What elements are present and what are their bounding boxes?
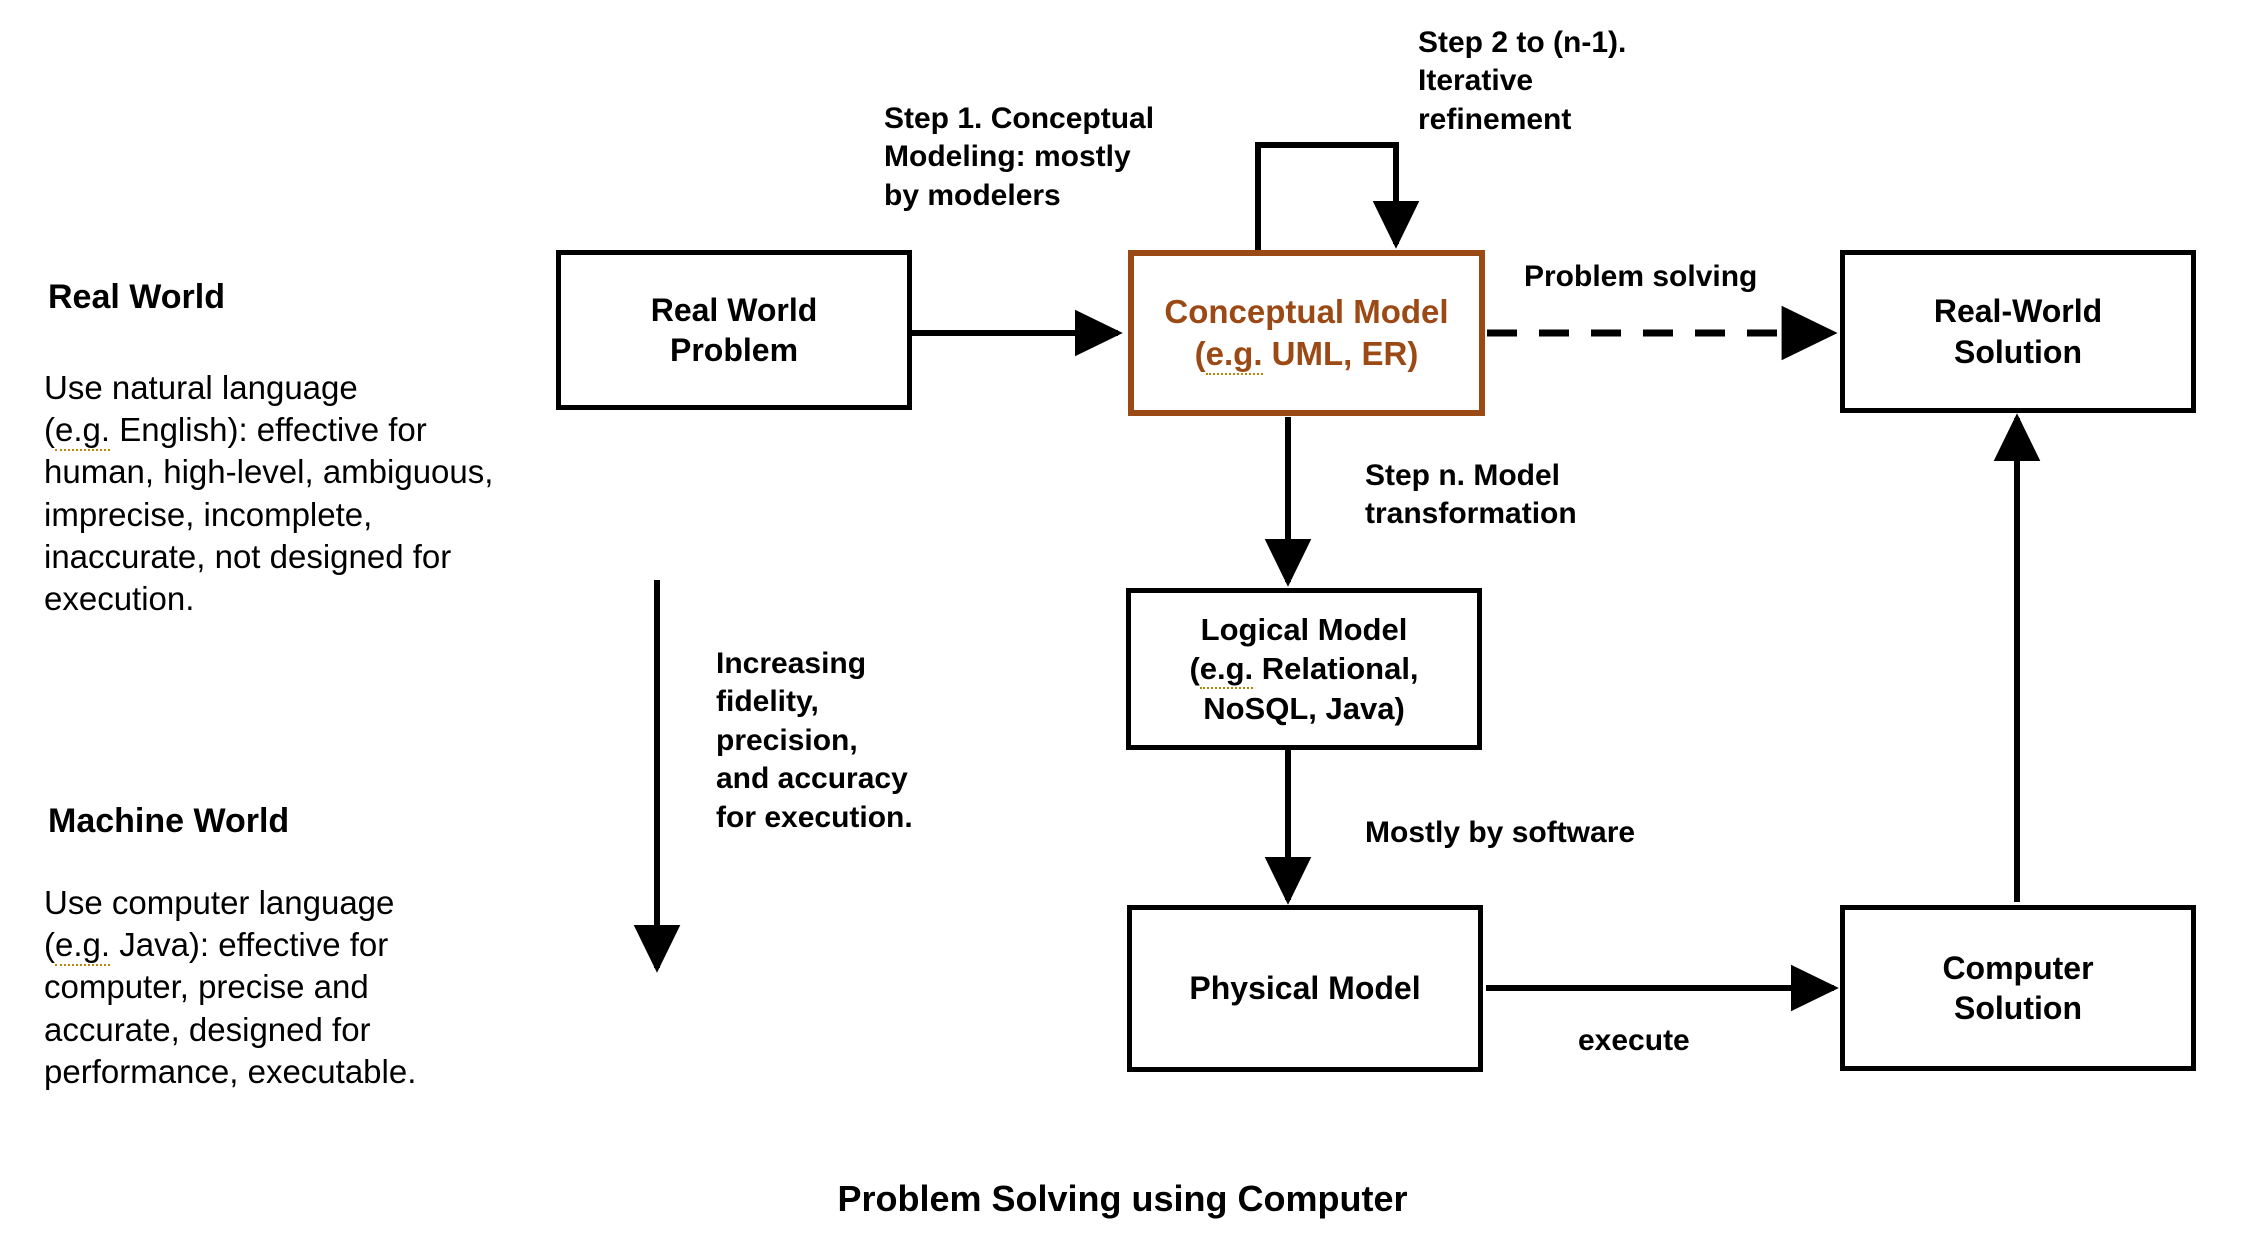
node-logical-model-line-3: NoSQL, Java) [1203,689,1405,728]
node-physical-model[interactable]: Physical Model [1127,905,1483,1072]
step-n-label: Step n. Model transformation [1365,457,1665,534]
node-physical-model-line-1: Physical Model [1189,968,1420,1008]
node-logical-model[interactable]: Logical Model (e.g. Relational, NoSQL, J… [1126,588,1482,750]
execute-label: execute [1578,1022,1690,1060]
node-conceptual-model-line-2-suffix: UML, ER) [1263,335,1419,372]
diagram-canvas: Real World Use natural language (e.g. En… [0,0,2245,1252]
node-logical-model-line-2: (e.g. Relational, [1189,649,1418,688]
node-real-world-solution-line-2: Solution [1954,332,2082,372]
node-computer-solution-line-2: Solution [1954,988,2082,1028]
node-conceptual-model-line-2-spell: e.g. [1206,335,1263,375]
increasing-fidelity-label: Increasing fidelity, precision, and accu… [716,645,996,837]
node-computer-solution[interactable]: Computer Solution [1840,905,2196,1071]
node-logical-model-line-1: Logical Model [1201,610,1408,649]
real-world-body-suffix: English): effective for human, high-leve… [44,411,493,617]
figure-caption: Problem Solving using Computer [0,1176,2245,1222]
node-real-world-problem-line-2: Problem [670,330,798,370]
node-computer-solution-line-1: Computer [1942,948,2093,988]
node-real-world-problem[interactable]: Real World Problem [556,250,912,410]
node-conceptual-model-line-2: (e.g. UML, ER) [1195,333,1419,375]
real-world-body-spell: e.g. [55,411,110,451]
node-conceptual-model-line-2-prefix: ( [1195,335,1206,372]
node-logical-model-line-2-spell: e.g. [1200,651,1253,689]
problem-solving-label: Problem solving [1524,258,1757,296]
node-real-world-solution-line-1: Real-World [1934,291,2102,331]
real-world-heading: Real World [48,276,225,320]
node-conceptual-model-line-1: Conceptual Model [1164,291,1448,333]
edge-iterative-refinement [1258,145,1396,250]
machine-world-body-spell: e.g. [55,926,110,966]
node-real-world-problem-line-1: Real World [651,290,818,330]
node-logical-model-line-2-suffix: Relational, [1253,651,1418,686]
machine-world-body: Use computer language (e.g. Java): effec… [44,882,664,1093]
mostly-by-software-label: Mostly by software [1365,814,1635,852]
step1-label: Step 1. Conceptual Modeling: mostly by m… [884,100,1214,215]
node-logical-model-line-2-prefix: ( [1189,651,1199,686]
node-real-world-solution[interactable]: Real-World Solution [1840,250,2196,413]
step2-label: Step 2 to (n-1). Iterative refinement [1418,24,1718,139]
node-conceptual-model[interactable]: Conceptual Model (e.g. UML, ER) [1128,250,1485,416]
machine-world-heading: Machine World [48,800,289,844]
